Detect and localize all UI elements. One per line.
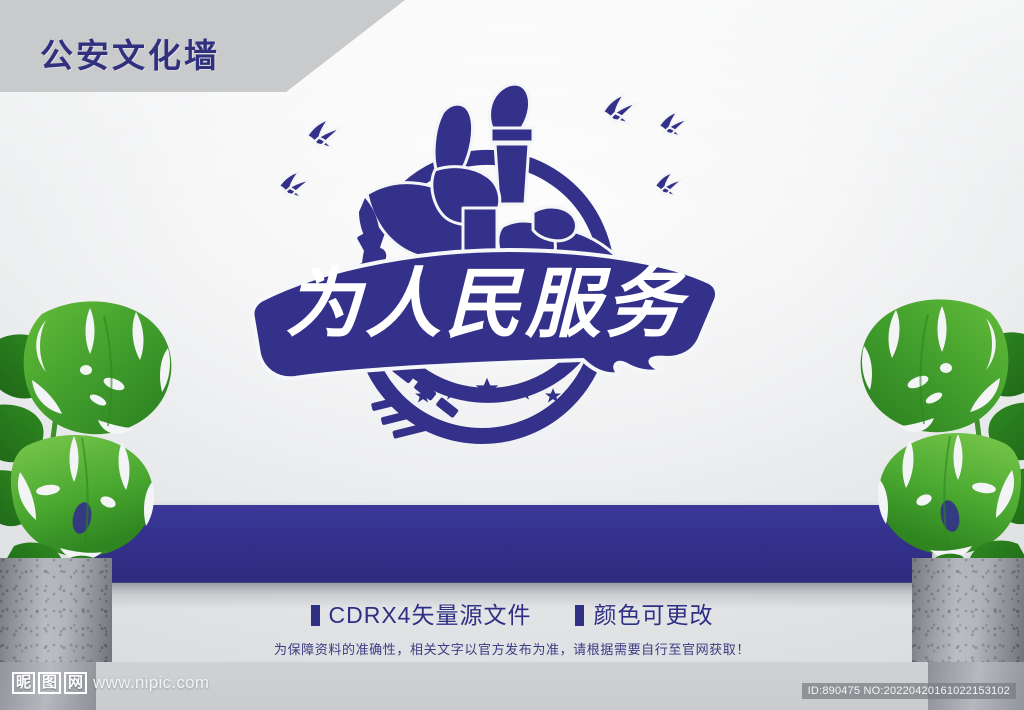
monstera-plant-left — [0, 296, 216, 596]
swallow-icon — [278, 170, 312, 200]
watermark-logo: 昵 图 网 — [12, 672, 87, 694]
feature-item-2: 颜色可更改 — [575, 596, 713, 630]
monstera-plant-right — [816, 286, 1024, 596]
swallow-icon — [653, 171, 684, 198]
watermark-char-3: 网 — [64, 672, 87, 694]
feature-item-1: CDRX4矢量源文件 — [311, 596, 532, 630]
swallow-icon — [657, 110, 690, 139]
monstera-leaf — [11, 435, 154, 560]
emblem-slogan: 为人民服务 — [285, 259, 690, 348]
blue-shelf-bar — [92, 505, 932, 583]
feature-label-2: 颜色可更改 — [593, 602, 713, 628]
image-id-badge: ID:890475 NO:20220420161022153102 — [802, 683, 1016, 699]
watermark-char-1: 昵 — [12, 672, 35, 694]
watermark-char-2: 图 — [38, 672, 61, 694]
watermark: 昵 图 网 www.nipic.com — [12, 672, 209, 694]
feature-list: CDRX4矢量源文件 颜色可更改 — [0, 596, 1024, 630]
emblem: 为人民服务 — [247, 78, 717, 468]
watermark-url: www.nipic.com — [93, 673, 209, 693]
wall-poster: 公安文化墙 — [0, 0, 1024, 710]
info-block: CDRX4矢量源文件 颜色可更改 为保障资料的准确性，相关文字以官方发布为准，请… — [0, 596, 1024, 662]
monstera-leaf — [878, 433, 1021, 558]
bullet-icon — [311, 605, 320, 626]
disclaimer-text: 为保障资料的准确性，相关文字以官方发布为准，请根据需要自行至官网获取！ — [0, 639, 1024, 658]
swallow-icon — [601, 93, 640, 128]
feature-label-1: CDRX4矢量源文件 — [329, 602, 532, 628]
monstera-leaf — [861, 299, 1009, 432]
bullet-icon — [575, 605, 584, 626]
swallow-icon — [305, 118, 343, 152]
monstera-leaf — [24, 301, 172, 434]
page-title: 公安文化墙 — [40, 29, 220, 77]
